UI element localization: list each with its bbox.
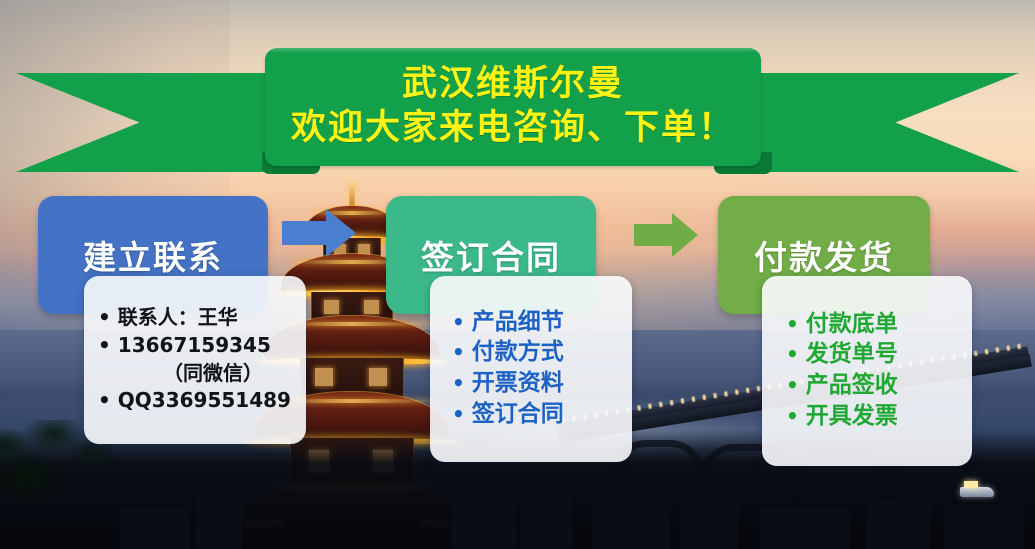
arrow-right-icon-2	[634, 213, 698, 257]
step-header-label: 付款发货	[754, 231, 894, 279]
list-item-sub: （同微信）	[98, 361, 306, 386]
step-bullet-list: • 产品细节 • 付款方式 • 开票资料 • 签订合同	[430, 306, 632, 430]
list-item: • 签订合同	[452, 400, 632, 429]
list-item: • 开具发票	[786, 402, 972, 431]
list-item-label: 发货单号	[806, 340, 898, 369]
arrow-shaft	[634, 224, 674, 246]
arrow-right-icon-1	[282, 209, 356, 257]
step-bullet-list: • 联系人：王华 • 13667159345 （同微信） • QQ3369551…	[84, 302, 306, 416]
list-item-label: QQ3369551489	[118, 388, 291, 413]
list-item-sublabel: （同微信）	[98, 361, 306, 386]
banner-title-line-2: 欢迎大家来电咨询、下单！	[291, 110, 735, 148]
bullet-icon: •	[786, 314, 799, 334]
bullet-icon: •	[452, 312, 465, 332]
list-item: • 付款方式	[452, 338, 632, 367]
list-item-label: 付款方式	[472, 338, 564, 367]
arrow-shaft	[282, 221, 328, 245]
list-item-label: 开票资料	[472, 369, 564, 398]
list-item-label: 付款底单	[806, 310, 898, 339]
list-item: • QQ3369551489	[98, 388, 306, 413]
list-item-label: 产品细节	[472, 308, 564, 337]
bullet-icon: •	[98, 335, 111, 355]
arrow-head	[326, 209, 356, 257]
poster-canvas: 武汉维斯尔曼 欢迎大家来电咨询、下单！ 建立联系 • 联系人：王华 • 1366…	[0, 0, 1035, 549]
step-bullet-list: • 付款底单 • 发货单号 • 产品签收 • 开具发票	[762, 308, 972, 432]
step-header-label: 签订合同	[421, 231, 561, 279]
bullet-icon: •	[786, 375, 799, 395]
bullet-icon: •	[98, 390, 111, 410]
arrow-head	[672, 213, 698, 257]
list-item: • 付款底单	[786, 310, 972, 339]
step-header-label: 建立联系	[83, 231, 223, 279]
list-item: • 产品签收	[786, 371, 972, 400]
bullet-icon: •	[452, 404, 465, 424]
list-item-label: 产品签收	[806, 371, 898, 400]
list-item: • 发货单号	[786, 340, 972, 369]
list-item-label: 签订合同	[472, 400, 564, 429]
step-card-sign-contract: • 产品细节 • 付款方式 • 开票资料 • 签订合同	[430, 276, 632, 462]
list-item: • 联系人：王华	[98, 305, 306, 330]
list-item: • 开票资料	[452, 369, 632, 398]
banner-center-panel: 武汉维斯尔曼 欢迎大家来电咨询、下单！	[265, 48, 761, 166]
list-item: • 产品细节	[452, 308, 632, 337]
bullet-icon: •	[98, 307, 111, 327]
list-item-label: 13667159345	[118, 333, 271, 358]
step-card-payment-shipping: • 付款底单 • 发货单号 • 产品签收 • 开具发票	[762, 276, 972, 466]
list-item-label: 开具发票	[806, 402, 898, 431]
bullet-icon: •	[452, 342, 465, 362]
bullet-icon: •	[452, 373, 465, 393]
list-item-label: 联系人：王华	[118, 305, 238, 330]
step-card-establish-contact: • 联系人：王华 • 13667159345 （同微信） • QQ3369551…	[84, 276, 306, 444]
bullet-icon: •	[786, 406, 799, 426]
bullet-icon: •	[786, 344, 799, 364]
banner-title-line-1: 武汉维斯尔曼	[402, 66, 624, 104]
list-item: • 13667159345	[98, 333, 306, 358]
